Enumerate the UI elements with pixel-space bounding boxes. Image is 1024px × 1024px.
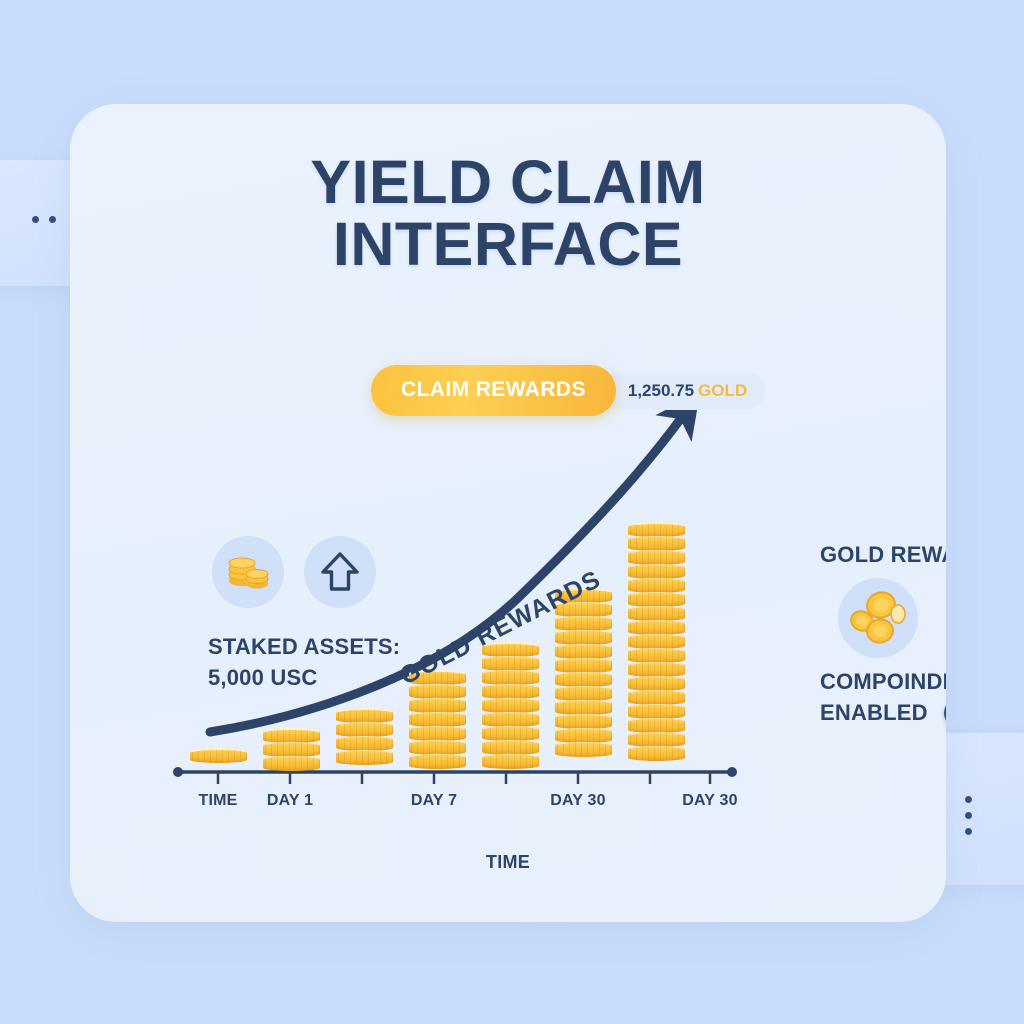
coin-disc xyxy=(628,550,685,565)
gold-rewards-label: GOLD REWARDS xyxy=(820,542,946,568)
coin-disc xyxy=(555,602,612,617)
coin-disc xyxy=(336,750,393,765)
coin-disc xyxy=(628,634,685,649)
bar-stack xyxy=(336,708,393,770)
coins-stack-glyph xyxy=(225,549,271,595)
gold-coins-glyph xyxy=(847,587,909,649)
bar-stack xyxy=(482,642,539,770)
coin-disc xyxy=(628,522,685,537)
coin-disc xyxy=(555,728,612,743)
x-axis-ticks xyxy=(218,772,710,784)
staked-assets-label: STAKED ASSETS: xyxy=(208,631,400,662)
coin-disc xyxy=(263,756,320,771)
bar-stack xyxy=(409,670,466,770)
staked-assets-value: 5,000 USC xyxy=(208,662,400,693)
x-tick-label: DAY 30 xyxy=(682,792,737,810)
up-arrow-glyph xyxy=(320,551,360,593)
coin-disc xyxy=(409,684,466,699)
x-tick-label: DAY 30 xyxy=(550,792,605,810)
coin-disc xyxy=(482,656,539,671)
coin-disc xyxy=(628,718,685,733)
coin-disc xyxy=(409,740,466,755)
decorative-dot xyxy=(32,216,39,223)
gold-coins-icon xyxy=(838,578,918,658)
coin-disc xyxy=(263,728,320,743)
coin-disc xyxy=(482,726,539,741)
coin-disc xyxy=(555,616,612,631)
coin-disc xyxy=(555,686,612,701)
coin-disc xyxy=(482,698,539,713)
coin-disc xyxy=(555,742,612,757)
bar-stack xyxy=(555,588,612,770)
coin-disc xyxy=(555,644,612,659)
coin-disc xyxy=(628,620,685,635)
coin-disc xyxy=(628,578,685,593)
bar-stack xyxy=(190,748,247,770)
gold-balance-pill: 1,250.75GOLD xyxy=(594,372,765,410)
coin-disc xyxy=(628,662,685,677)
coins-stack-icon xyxy=(212,536,284,608)
coin-disc xyxy=(555,700,612,715)
page-title-line-1: YIELD CLAIM xyxy=(310,148,705,216)
compounding-state-row: ENABLED xyxy=(820,697,946,728)
coin-disc xyxy=(409,726,466,741)
compounding-state: ENABLED xyxy=(820,697,928,728)
bar-stack xyxy=(263,728,320,770)
coin-disc xyxy=(482,754,539,769)
coin-disc xyxy=(628,592,685,607)
decorative-dot xyxy=(49,216,56,223)
coin-disc xyxy=(628,732,685,747)
coin-disc xyxy=(628,676,685,691)
claim-bar: CLAIM REWARDS 1,250.75GOLD xyxy=(371,365,765,416)
coin-disc xyxy=(555,588,612,603)
main-panel: YIELD CLAIM INTERFACE CLAIM REWARDS 1,25… xyxy=(70,104,946,922)
coin-disc xyxy=(628,690,685,705)
bar-stack xyxy=(628,522,685,770)
series-annotation-label: GOLD REWARDS xyxy=(395,565,605,691)
coin-disc xyxy=(482,670,539,685)
coin-disc xyxy=(482,740,539,755)
page-title-line-2: INTERFACE xyxy=(70,213,946,275)
staked-assets-info: STAKED ASSETS: 5,000 USC xyxy=(208,631,400,693)
coin-disc xyxy=(555,714,612,729)
x-axis-end-cap xyxy=(727,767,737,777)
coin-disc xyxy=(409,754,466,769)
x-axis-start-cap xyxy=(173,767,183,777)
coin-disc xyxy=(409,670,466,685)
x-tick-label: TIME xyxy=(198,792,237,810)
coin-disc xyxy=(336,708,393,723)
coin-disc xyxy=(555,672,612,687)
x-axis-title: TIME xyxy=(486,852,530,873)
up-arrow-icon xyxy=(304,536,376,608)
coin-disc xyxy=(555,658,612,673)
decorative-dot xyxy=(965,812,972,819)
gold-balance-unit: GOLD xyxy=(698,381,747,400)
coin-disc xyxy=(628,704,685,719)
coin-disc xyxy=(628,606,685,621)
page-title: YIELD CLAIM INTERFACE xyxy=(70,151,946,275)
coin-disc xyxy=(409,712,466,727)
coin-disc xyxy=(482,712,539,727)
coin-disc xyxy=(409,698,466,713)
coin-disc xyxy=(336,722,393,737)
decorative-dot xyxy=(965,828,972,835)
compounding-info: COMPOINDING: ENABLED xyxy=(820,666,946,728)
coin-disc xyxy=(482,642,539,657)
decorative-dot xyxy=(965,796,972,803)
compounding-label: COMPOINDING: xyxy=(820,666,946,697)
x-tick-label: DAY 7 xyxy=(411,792,457,810)
claim-rewards-button[interactable]: CLAIM REWARDS xyxy=(371,365,616,416)
coin-disc xyxy=(555,630,612,645)
coin-disc xyxy=(336,736,393,751)
coin-disc xyxy=(482,684,539,699)
coin-disc xyxy=(628,564,685,579)
gold-balance-amount: 1,250.75 xyxy=(628,381,694,400)
compounding-toggle[interactable] xyxy=(944,698,946,728)
x-tick-label: DAY 1 xyxy=(267,792,313,810)
coin-disc xyxy=(628,648,685,663)
coin-disc xyxy=(628,536,685,551)
coin-disc xyxy=(190,748,247,763)
coin-disc xyxy=(263,742,320,757)
coin-disc xyxy=(628,746,685,761)
